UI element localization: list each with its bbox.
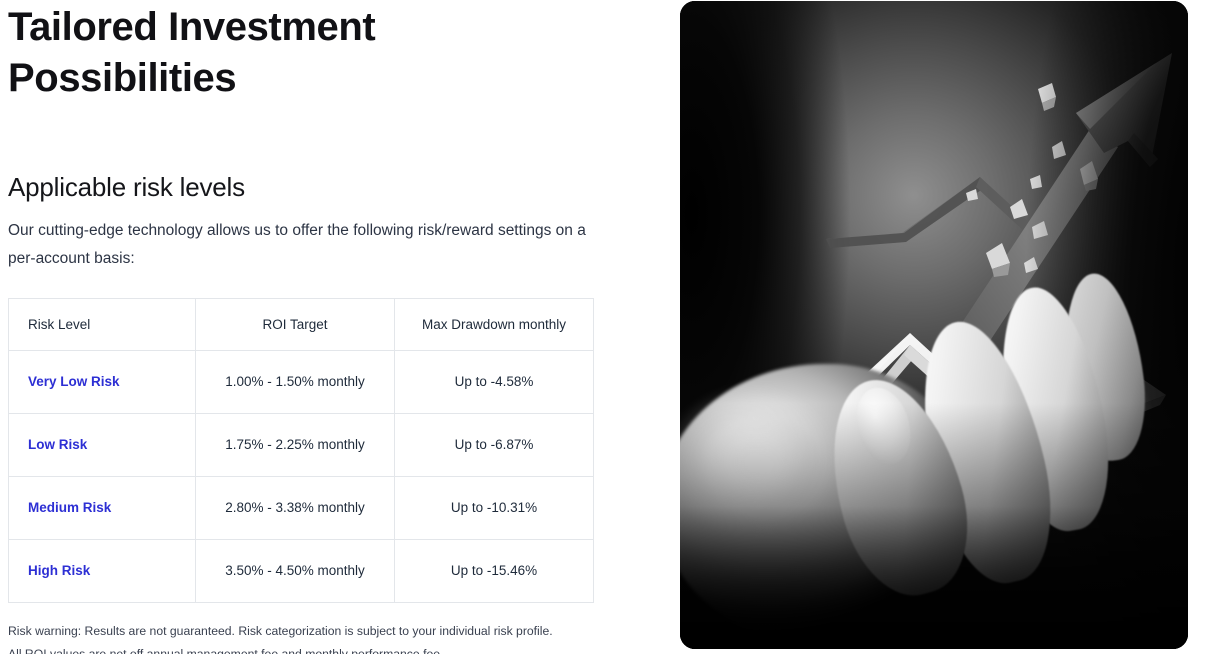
table-row: Low Risk 1.75% - 2.25% monthly Up to -6.… [9, 413, 594, 476]
section-heading: Applicable risk levels [8, 172, 660, 203]
roi-fee-note-text: All ROI values are net off annual manage… [8, 643, 660, 654]
risk-levels-table: Risk Level ROI Target Max Drawdown month… [8, 298, 594, 603]
risk-level-link[interactable]: Low Risk [9, 413, 196, 476]
max-drawdown-value: Up to -6.87% [395, 413, 594, 476]
image-vignette-bottom [680, 403, 1188, 649]
table-header: Risk Level ROI Target Max Drawdown month… [9, 298, 594, 350]
table-row: Medium Risk 2.80% - 3.38% monthly Up to … [9, 476, 594, 539]
max-drawdown-value: Up to -10.31% [395, 476, 594, 539]
column-header-roi-target: ROI Target [196, 298, 395, 350]
table-row: High Risk 3.50% - 4.50% monthly Up to -1… [9, 539, 594, 602]
roi-target-value: 2.80% - 3.38% monthly [196, 476, 395, 539]
roi-target-value: 3.50% - 4.50% monthly [196, 539, 395, 602]
table-header-row: Risk Level ROI Target Max Drawdown month… [9, 298, 594, 350]
roi-target-value: 1.75% - 2.25% monthly [196, 413, 395, 476]
section-intro-text: Our cutting-edge technology allows us to… [8, 217, 586, 271]
column-header-max-drawdown: Max Drawdown monthly [395, 298, 594, 350]
content-column: Tailored Investment Possibilities Applic… [0, 0, 660, 654]
table-body: Very Low Risk 1.00% - 1.50% monthly Up t… [9, 350, 594, 602]
max-drawdown-value: Up to -4.58% [395, 350, 594, 413]
hero-image-panel [680, 1, 1188, 649]
roi-target-value: 1.00% - 1.50% monthly [196, 350, 395, 413]
risk-warning-text: Risk warning: Results are not guaranteed… [8, 620, 660, 644]
max-drawdown-value: Up to -15.46% [395, 539, 594, 602]
table-row: Very Low Risk 1.00% - 1.50% monthly Up t… [9, 350, 594, 413]
risk-level-link[interactable]: High Risk [9, 539, 196, 602]
risk-level-link[interactable]: Medium Risk [9, 476, 196, 539]
footnotes: Risk warning: Results are not guaranteed… [8, 620, 660, 654]
risk-level-link[interactable]: Very Low Risk [9, 350, 196, 413]
page-root: Tailored Investment Possibilities Applic… [0, 0, 1207, 654]
page-title: Tailored Investment Possibilities [8, 2, 438, 104]
column-header-risk-level: Risk Level [9, 298, 196, 350]
